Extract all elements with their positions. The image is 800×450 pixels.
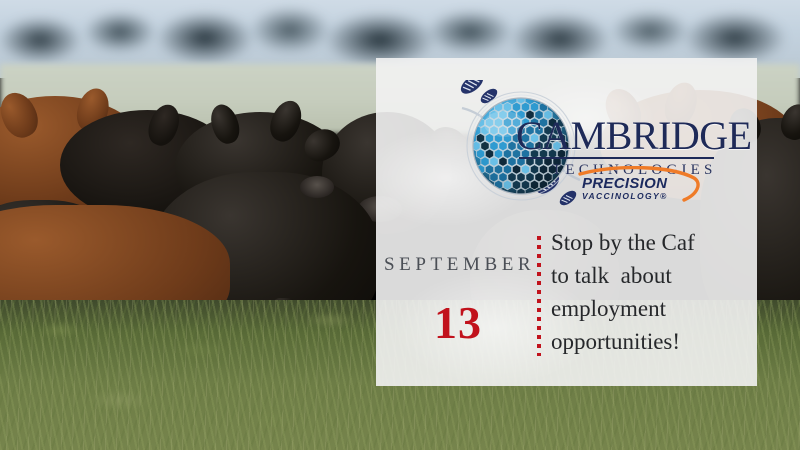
tagline-line-1: PRECISION bbox=[582, 176, 668, 191]
dotted-divider bbox=[537, 236, 541, 356]
cow-muzzle bbox=[300, 176, 334, 198]
info-card: CAMBRIDGE TECHNOLOGIES PRECISION VACCINO… bbox=[376, 58, 757, 386]
event-day: 13 bbox=[384, 296, 532, 349]
message-line: to talk about bbox=[551, 259, 751, 292]
message-line: Stop by the Caf bbox=[551, 226, 751, 259]
poster-canvas: CAMBRIDGE TECHNOLOGIES PRECISION VACCINO… bbox=[0, 0, 800, 450]
brand-name: CAMBRIDGE bbox=[516, 116, 746, 156]
message-line: opportunities! bbox=[551, 325, 751, 358]
message-line: employment bbox=[551, 292, 751, 325]
event-month: SEPTEMBER bbox=[384, 254, 532, 276]
tagline-line-2: VACCINOLOGY® bbox=[582, 191, 668, 201]
event-message: Stop by the Caf to talk about employment… bbox=[551, 226, 751, 358]
precision-vaccinology-lockup: PRECISION VACCINOLOGY® bbox=[576, 166, 711, 208]
event-date-block: SEPTEMBER 13 bbox=[384, 230, 532, 378]
logo-block: CAMBRIDGE TECHNOLOGIES PRECISION VACCINO… bbox=[376, 58, 757, 223]
